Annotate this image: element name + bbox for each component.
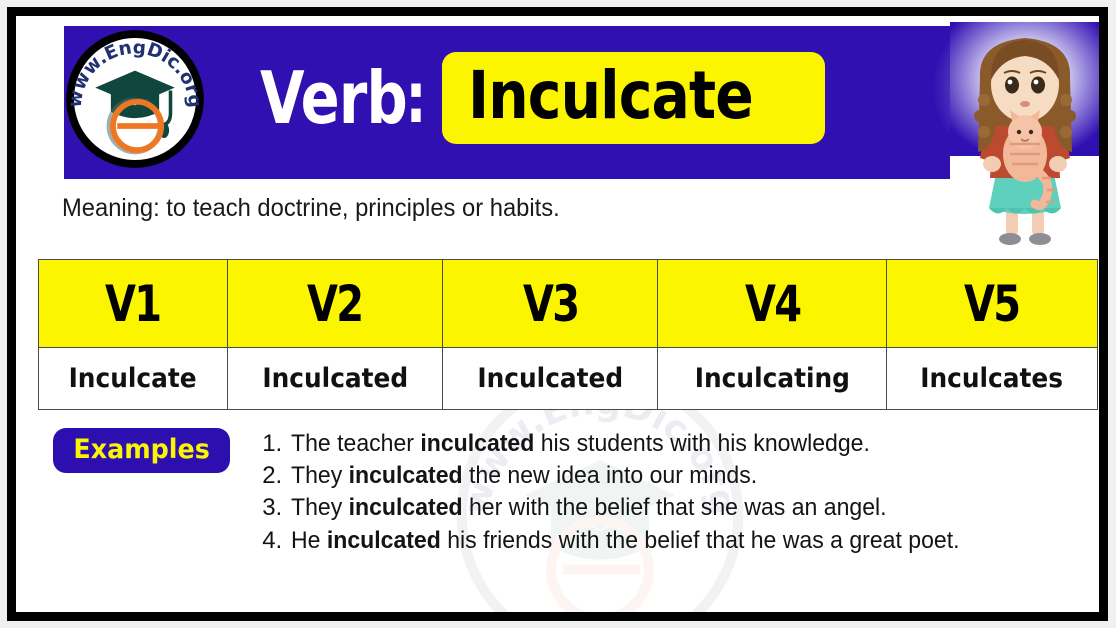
example-item: 2. They inculcated the new idea into our…	[262, 460, 1098, 491]
example-text-after: his friends with the belief that he was …	[441, 527, 960, 554]
verb-table-header-row: V1 V2 V3 V4 V5	[39, 260, 1098, 348]
verb-form-cell-v5: Inculcates	[887, 348, 1098, 410]
verb-header-cell-v5: V5	[887, 260, 1098, 348]
examples-list: 1. The teacher inculcated his students w…	[262, 426, 1098, 557]
verb-header-label-v3: V3	[522, 275, 578, 333]
verb-forms-table: V1 V2 V3 V4 V5 Inculcate Inculcated Incu…	[38, 259, 1098, 410]
meaning-text: Meaning: to teach doctrine, principles o…	[62, 194, 560, 223]
example-keyword: inculcated	[349, 462, 463, 489]
example-text-after: the new idea into our minds.	[463, 462, 758, 489]
verb-header-cell-v3: V3	[443, 260, 658, 348]
verb-header-label-v4: V4	[744, 275, 800, 333]
outer-picture-frame: www.EngDic.org www.EngDic.org	[0, 0, 1116, 628]
verb-form-cell-v3: Inculcated	[443, 348, 658, 410]
verb-header-label-v2: V2	[307, 275, 363, 333]
example-text-before: The teacher	[291, 430, 420, 457]
verb-header-cell-v1: V1	[39, 260, 228, 348]
example-keyword: inculcated	[349, 494, 463, 521]
example-number: 3.	[262, 492, 291, 523]
verb-form-label-v4: Inculcating	[695, 363, 850, 394]
verb-header-cell-v4: V4	[658, 260, 887, 348]
verb-header-label-v1: V1	[105, 275, 161, 333]
example-sentence: He inculcated his friends with the belie…	[291, 525, 1066, 556]
example-sentence: They inculcated the new idea into our mi…	[291, 460, 1066, 491]
example-item: 4. He inculcated his friends with the be…	[262, 525, 1098, 556]
example-text-before: They	[291, 494, 349, 521]
verb-header-label-v5: V5	[964, 275, 1020, 333]
example-sentence: They inculcated her with the belief that…	[291, 492, 1066, 523]
example-text-after: her with the belief that she was an ange…	[463, 494, 887, 521]
examples-section: Examples 1. The teacher inculcated his s…	[38, 426, 1098, 557]
example-keyword: inculcated	[327, 527, 441, 554]
verb-form-cell-v2: Inculcated	[228, 348, 443, 410]
verb-form-label-v5: Inculcates	[921, 363, 1064, 394]
verb-table-forms-row: Inculcate Inculcated Inculcated Inculcat…	[39, 348, 1098, 410]
verb-form-label-v3: Inculcated	[477, 363, 623, 394]
example-item: 3. They inculcated her with the belief t…	[262, 492, 1098, 523]
example-number: 4.	[262, 525, 291, 556]
verb-form-label-v2: Inculcated	[262, 363, 408, 394]
examples-badge: Examples	[53, 428, 230, 473]
verb-form-cell-v4: Inculcating	[658, 348, 887, 410]
content-canvas: www.EngDic.org www.EngDic.org	[16, 16, 1099, 612]
verb-header-cell-v2: V2	[228, 260, 443, 348]
word-chip: Inculcate	[442, 52, 825, 143]
engdic-logo: www.EngDic.org	[64, 28, 206, 170]
example-number: 1.	[262, 428, 291, 459]
word-label: Inculcate	[468, 61, 753, 130]
example-item: 1. The teacher inculcated his students w…	[262, 428, 1098, 459]
example-sentence: The teacher inculcated his students with…	[291, 428, 1066, 459]
example-text-before: He	[291, 527, 327, 554]
examples-badge-label: Examples	[73, 434, 209, 465]
example-keyword: inculcated	[421, 430, 535, 457]
verb-form-label-v1: Inculcate	[69, 363, 197, 394]
example-text-after: his students with his knowledge.	[535, 430, 871, 457]
header-band: www.EngDic.org Verb : Inculcate	[64, 26, 1089, 179]
example-text-before: They	[291, 462, 349, 489]
verb-form-cell-v1: Inculcate	[39, 348, 228, 410]
black-border: www.EngDic.org www.EngDic.org	[7, 7, 1108, 621]
title-separator: :	[405, 63, 426, 133]
girl-holding-cat-illustration	[950, 22, 1102, 255]
header-title-row: Verb : Inculcate	[260, 42, 825, 154]
part-of-speech-label: Verb	[260, 62, 407, 134]
example-number: 2.	[262, 460, 291, 491]
